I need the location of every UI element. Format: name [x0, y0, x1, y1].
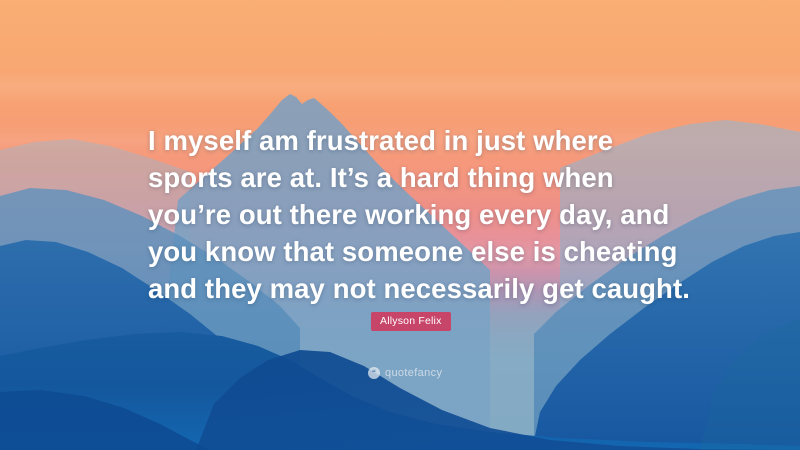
watermark-brand-label: quotefancy — [385, 367, 442, 379]
quotefancy-watermark[interactable]: “ quotefancy — [368, 367, 442, 379]
quote-line: sports are at. It’s a hard thing when — [148, 159, 668, 196]
quote-mark-icon: “ — [368, 367, 380, 379]
quote-poster: I myself am frustrated in just where spo… — [0, 0, 800, 450]
quote-line: you’re out there working every day, and — [148, 196, 668, 233]
quote-text: I myself am frustrated in just where spo… — [148, 122, 668, 307]
quote-line: and they may not necessarily get caught. — [148, 270, 668, 307]
author-name-badge[interactable]: Allyson Felix — [371, 312, 451, 331]
quote-line: you know that someone else is cheating — [148, 233, 668, 270]
quote-line: I myself am frustrated in just where — [148, 122, 668, 159]
